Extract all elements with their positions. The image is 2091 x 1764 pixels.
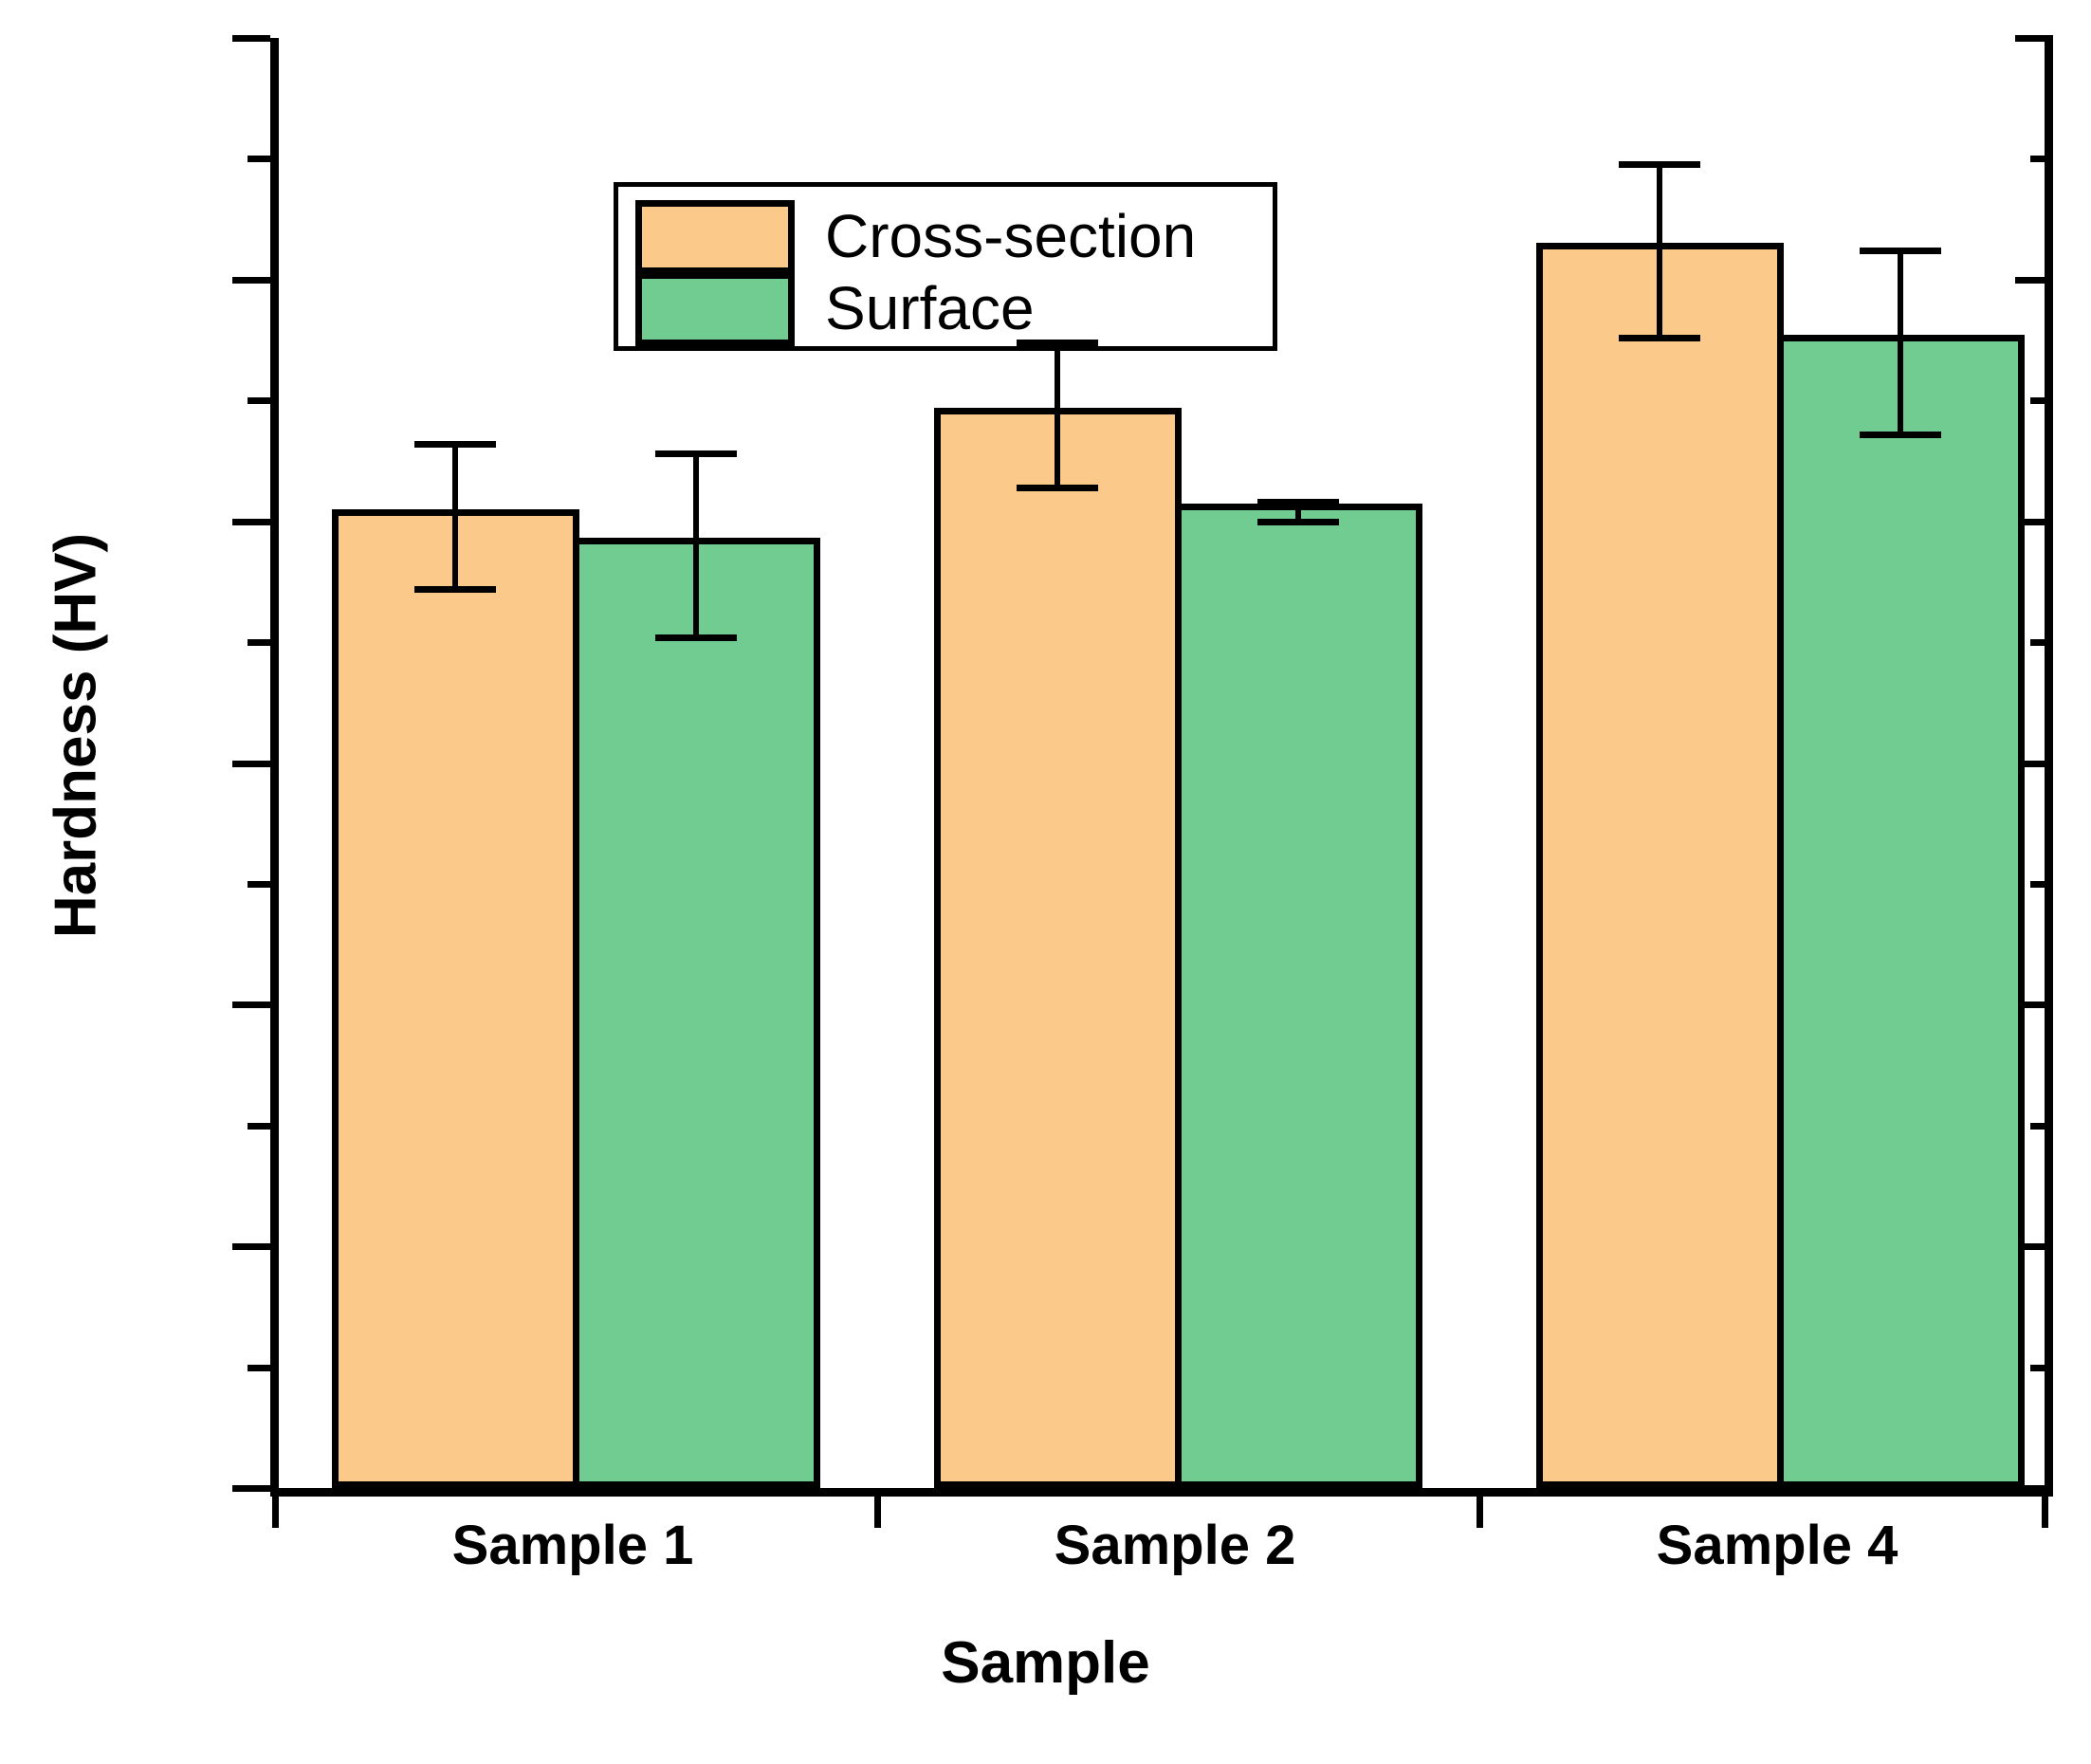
error-bar-cap-lower <box>1017 485 1098 491</box>
y-tick-major <box>2015 35 2053 42</box>
y-tick-minor <box>2030 156 2053 162</box>
error-bar-cap-upper <box>1860 248 1941 254</box>
x-tick-label: Sample 4 <box>1531 1514 2024 1577</box>
bar-surface-sample-2[interactable] <box>1175 504 1422 1488</box>
x-tick <box>272 1496 279 1528</box>
bar-surface-sample-1[interactable] <box>573 538 820 1488</box>
y-tick-minor <box>2030 639 2053 646</box>
error-bar-cap-upper <box>1017 340 1098 346</box>
error-bar-cap-upper <box>414 441 496 448</box>
y-tick-minor <box>248 881 270 888</box>
error-bar-cap-lower <box>655 634 737 641</box>
y-tick-minor <box>2030 397 2053 404</box>
y-tick-major <box>232 1243 270 1250</box>
y-tick-minor <box>2030 1123 2053 1130</box>
x-tick <box>874 1496 881 1528</box>
axis-line-bottom <box>270 1488 2053 1497</box>
y-tick-minor <box>2030 881 2053 888</box>
x-tick-label: Sample 2 <box>928 1514 1422 1577</box>
legend-label-surface: Surface <box>825 270 1035 346</box>
axis-line-left <box>270 38 279 1496</box>
y-tick-major <box>2015 277 2053 284</box>
chart-canvas: Hardness (HV) Cross-section Surface 3002… <box>0 0 2091 1764</box>
error-bar-line <box>1055 342 1060 487</box>
bar-surface-sample-4[interactable] <box>1777 335 2025 1488</box>
error-bar-line <box>1898 250 1903 434</box>
y-tick-major <box>232 1485 270 1492</box>
error-bar-cap-upper <box>1257 499 1339 505</box>
error-bar-cap-lower <box>414 586 496 593</box>
plot-area: Cross-section Surface <box>270 38 2053 1496</box>
error-bar-line <box>452 444 458 589</box>
y-axis-title: Hardness (HV) <box>43 376 110 1096</box>
error-bar-line <box>1657 164 1662 338</box>
error-bar-cap-lower <box>1619 335 1700 341</box>
y-tick-minor <box>2030 1365 2053 1371</box>
y-tick-major <box>232 35 270 42</box>
legend: Cross-section Surface <box>614 182 1277 351</box>
legend-swatch-cross-section <box>635 200 795 274</box>
x-tick <box>1477 1496 1483 1528</box>
y-tick-minor <box>248 1123 270 1130</box>
bar-cross-section-sample-1[interactable] <box>332 509 579 1488</box>
legend-swatch-surface <box>635 272 795 346</box>
error-bar-cap-lower <box>1860 432 1941 438</box>
x-tick-label: Sample 1 <box>326 1514 819 1577</box>
bar-cross-section-sample-2[interactable] <box>934 408 1182 1488</box>
y-tick-minor <box>248 156 270 162</box>
error-bar-line <box>693 453 699 637</box>
error-bar-cap-lower <box>1257 519 1339 525</box>
y-tick-major <box>232 1001 270 1008</box>
error-bar-cap-upper <box>1619 161 1700 168</box>
y-tick-major <box>232 519 270 525</box>
y-axis-title-wrapper: Hardness (HV) <box>0 0 1 1</box>
y-tick-major <box>232 277 270 284</box>
y-tick-minor <box>248 1365 270 1371</box>
bar-cross-section-sample-4[interactable] <box>1536 243 1784 1488</box>
legend-label-cross-section: Cross-section <box>825 198 1196 274</box>
x-axis-title: Sample <box>0 1629 2091 1697</box>
y-tick-major <box>232 761 270 767</box>
axis-line-right <box>2045 38 2053 1496</box>
y-tick-minor <box>248 639 270 646</box>
error-bar-cap-upper <box>655 450 737 457</box>
y-tick-minor <box>248 397 270 404</box>
x-tick <box>2042 1496 2048 1528</box>
